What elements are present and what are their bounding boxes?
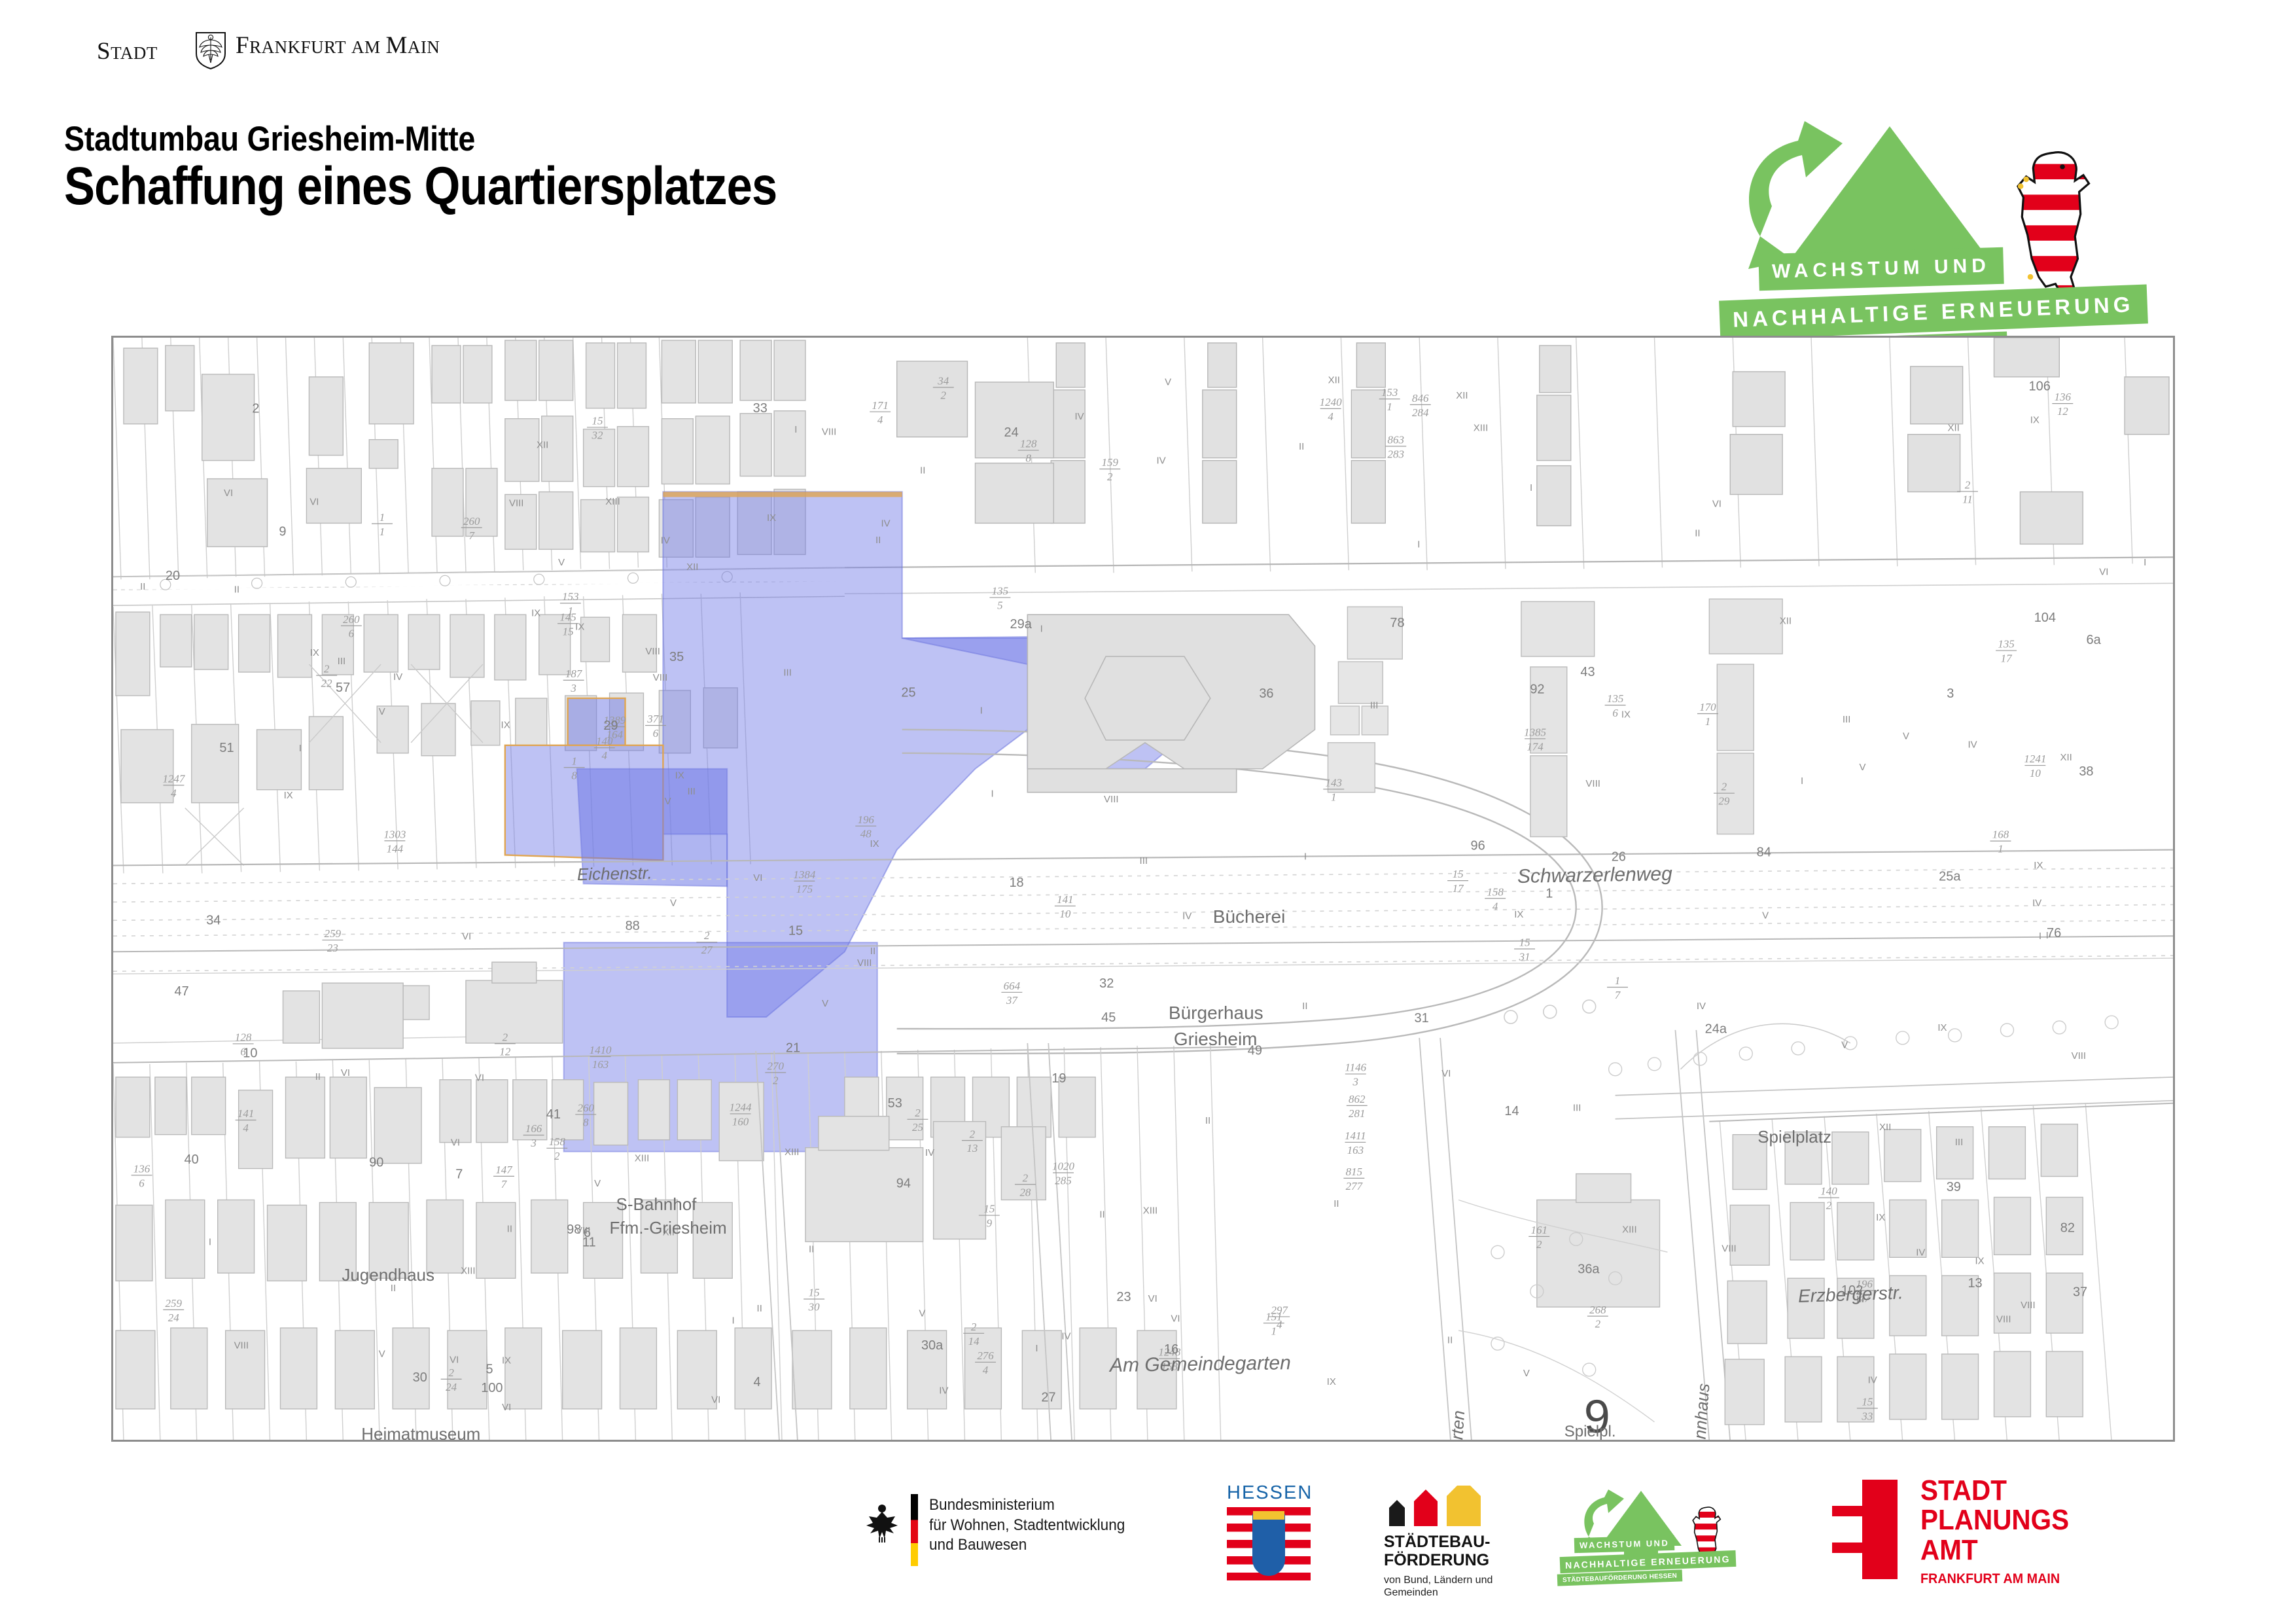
svg-text:VI: VI	[2099, 567, 2108, 578]
svg-text:283: 283	[1388, 448, 1404, 460]
svg-text:VI: VI	[502, 1402, 511, 1413]
page-title: Schaffung eines Quartiersplatzes	[64, 156, 777, 217]
svg-text:270: 270	[768, 1060, 785, 1072]
svg-text:31: 31	[1519, 951, 1530, 963]
svg-text:V: V	[665, 796, 671, 807]
svg-text:XII: XII	[1328, 375, 1340, 386]
svg-text:IX: IX	[501, 719, 510, 730]
svg-text:106: 106	[2029, 379, 2051, 393]
svg-text:XIII: XIII	[1143, 1205, 1157, 1216]
svg-text:13: 13	[1968, 1276, 1982, 1291]
svg-text:II: II	[140, 581, 145, 592]
svg-text:92: 92	[1530, 682, 1544, 696]
svg-text:III: III	[687, 786, 695, 797]
svg-text:1240: 1240	[1320, 396, 1342, 408]
svg-text:II: II	[920, 465, 925, 476]
bmwsb-line2: für Wohnen, Stadtentwicklung	[929, 1516, 1125, 1536]
svg-text:I: I	[980, 705, 983, 716]
svg-text:21: 21	[786, 1041, 800, 1056]
staedtebaufoerderung-logo: STÄDTEBAU- FÖRDERUNG von Bund, Ländern u…	[1384, 1486, 1528, 1584]
bundesadler-icon	[864, 1501, 900, 1544]
svg-text:XIII: XIII	[1474, 422, 1488, 433]
svg-text:37: 37	[1006, 994, 1018, 1007]
svg-text:2: 2	[503, 1031, 508, 1043]
svg-text:II: II	[809, 1243, 814, 1255]
svg-text:V: V	[1523, 1368, 1530, 1379]
svg-text:1: 1	[380, 526, 385, 538]
svg-text:VIII: VIII	[1104, 794, 1118, 805]
svg-text:VI: VI	[753, 872, 762, 883]
svg-text:15: 15	[788, 924, 803, 938]
svg-text:VIII: VIII	[2021, 1300, 2035, 1311]
svg-text:VI: VI	[475, 1072, 484, 1083]
svg-text:V: V	[594, 1178, 601, 1189]
svg-text:153: 153	[1381, 386, 1398, 399]
svg-text:35: 35	[669, 650, 684, 664]
svg-text:I: I	[2039, 931, 2041, 942]
svg-text:33: 33	[753, 401, 768, 416]
svg-text:19: 19	[1051, 1071, 1066, 1086]
svg-text:8: 8	[571, 769, 577, 781]
svg-text:VI: VI	[462, 931, 471, 942]
place-label-b-cherei: Bücherei	[1213, 906, 1286, 927]
svg-text:158: 158	[549, 1135, 566, 1148]
stadtplanungsamt-logo: STADT PLANUNGS AMT FRANKFURT AM MAIN	[1832, 1476, 2172, 1587]
svg-text:33: 33	[1861, 1410, 1873, 1422]
svg-text:VI: VI	[1712, 499, 1722, 510]
svg-text:1244: 1244	[730, 1101, 752, 1114]
svg-text:6: 6	[1612, 707, 1618, 719]
svg-text:3: 3	[1352, 1076, 1358, 1088]
svg-text:29a: 29a	[1010, 617, 1033, 632]
svg-text:V: V	[1903, 730, 1909, 741]
svg-text:IX: IX	[870, 838, 879, 849]
svg-text:4: 4	[243, 1122, 249, 1134]
svg-text:4: 4	[877, 414, 883, 426]
svg-text:664: 664	[1004, 980, 1021, 992]
hessen-wordmark: HESSEN	[1227, 1482, 1312, 1504]
svg-text:371: 371	[646, 713, 663, 725]
svg-text:2: 2	[252, 401, 259, 416]
svg-text:IV: IV	[1968, 740, 1977, 751]
svg-text:II: II	[1447, 1334, 1453, 1346]
cadastral-map[interactable]: 9 13661355135613517136121402140414141411…	[111, 336, 2175, 1442]
svg-text:268: 268	[1589, 1304, 1606, 1316]
svg-text:XIII: XIII	[461, 1266, 475, 1277]
svg-text:2: 2	[448, 1366, 454, 1379]
svg-text:IX: IX	[1975, 1256, 1984, 1267]
svg-text:136: 136	[133, 1162, 150, 1175]
svg-text:84: 84	[1757, 845, 1771, 859]
svg-text:3: 3	[1947, 687, 1954, 701]
svg-text:I: I	[732, 1315, 735, 1326]
svg-text:51: 51	[219, 741, 234, 755]
svg-text:IX: IX	[2034, 860, 2043, 871]
svg-text:166: 166	[525, 1122, 542, 1135]
svg-text:V: V	[1841, 1040, 1848, 1051]
svg-text:135: 135	[1607, 692, 1623, 705]
svg-text:2: 2	[915, 1107, 921, 1119]
svg-text:143: 143	[1326, 776, 1342, 789]
svg-text:24: 24	[1004, 425, 1018, 440]
svg-text:IV: IV	[661, 535, 670, 546]
svg-text:846: 846	[1412, 392, 1429, 404]
svg-text:144: 144	[387, 842, 404, 855]
svg-text:140: 140	[1820, 1185, 1837, 1198]
poster-page: STADT FRANKFURTAMMAIN Stadtumbau Grieshe…	[0, 0, 2296, 1623]
svg-text:128: 128	[1020, 438, 1037, 450]
svg-text:2: 2	[971, 1321, 977, 1333]
city-wordmark-2: FRANKFURTAMMAIN	[236, 31, 440, 69]
svg-text:1: 1	[1386, 401, 1392, 413]
svg-text:2: 2	[1107, 471, 1113, 483]
svg-text:284: 284	[1412, 406, 1429, 419]
sbf-line2: FÖRDERUNG	[1384, 1551, 1528, 1569]
spa-line2: PLANUNGS	[1920, 1505, 2069, 1535]
svg-text:IX: IX	[1876, 1212, 1885, 1223]
svg-text:30a: 30a	[921, 1338, 944, 1353]
svg-text:IX: IX	[675, 770, 684, 781]
bmwsb-text: Bundesministerium für Wohnen, Stadtentwi…	[929, 1495, 1125, 1556]
svg-text:V: V	[379, 706, 385, 717]
spa-line1: STADT	[1920, 1476, 2069, 1505]
svg-text:II: II	[315, 1071, 321, 1082]
svg-text:135: 135	[992, 585, 1008, 597]
svg-text:XIII: XIII	[605, 496, 620, 507]
svg-text:I: I	[299, 743, 302, 754]
svg-text:34: 34	[937, 374, 949, 387]
svg-text:VI: VI	[224, 488, 233, 499]
svg-text:32: 32	[592, 429, 603, 442]
svg-text:88: 88	[626, 919, 640, 933]
place-label-spielpl: Spielpl.	[1564, 1423, 1616, 1441]
svg-text:4: 4	[1328, 410, 1333, 423]
bmwsb-line3: und Bauwesen	[929, 1535, 1125, 1556]
svg-text:2: 2	[554, 1150, 560, 1162]
svg-text:1: 1	[1705, 715, 1710, 728]
svg-text:34: 34	[206, 913, 221, 927]
svg-text:III: III	[1843, 714, 1850, 725]
city-wordmark: STADT	[97, 37, 192, 65]
svg-text:II: II	[875, 535, 881, 546]
svg-text:196: 196	[857, 813, 874, 826]
svg-text:IV: IV	[1697, 1001, 1706, 1012]
svg-text:25a: 25a	[1939, 870, 1961, 884]
svg-text:159: 159	[1102, 456, 1119, 469]
svg-text:II: II	[507, 1223, 512, 1234]
svg-text:30: 30	[808, 1301, 820, 1313]
subtitle: Stadtumbau Griesheim-Mitte	[64, 119, 475, 159]
svg-text:V: V	[379, 1349, 385, 1360]
svg-text:III: III	[1140, 855, 1148, 866]
svg-text:2: 2	[1023, 1171, 1029, 1184]
place-label-b-rgerhaus: Bürgerhaus	[1169, 1003, 1263, 1024]
place-label-spielplatz: Spielplatz	[1757, 1127, 1831, 1147]
svg-text:VIII: VIII	[822, 427, 836, 438]
svg-text:160: 160	[732, 1116, 749, 1128]
street-label-am-gemeindegarten: Am Gemeindegarten	[1110, 1353, 1291, 1378]
svg-text:297: 297	[1271, 1304, 1288, 1317]
svg-text:32: 32	[1099, 976, 1114, 991]
hessen-flag-icon	[1227, 1507, 1311, 1580]
wne-footer-line1: WACHSTUM UND	[1574, 1535, 1675, 1553]
svg-text:24a: 24a	[1705, 1022, 1727, 1036]
svg-text:4: 4	[983, 1364, 989, 1376]
svg-text:7: 7	[501, 1178, 508, 1190]
stadtplanungsamt-mark-icon	[1832, 1480, 1898, 1579]
svg-text:III: III	[783, 668, 791, 679]
svg-text:171: 171	[872, 399, 888, 412]
svg-text:37: 37	[2073, 1285, 2087, 1300]
svg-text:VIII: VIII	[857, 957, 872, 969]
svg-text:38: 38	[2079, 764, 2093, 779]
svg-text:I: I	[1801, 776, 1803, 787]
svg-text:13: 13	[966, 1142, 978, 1154]
svg-text:15: 15	[1519, 936, 1530, 949]
svg-text:VI: VI	[1148, 1293, 1157, 1304]
svg-text:IV: IV	[1156, 455, 1165, 466]
svg-text:1303: 1303	[383, 828, 406, 840]
sbf-sub: von Bund, Ländern und Gemeinden	[1384, 1574, 1528, 1599]
svg-text:XIII: XIII	[1622, 1224, 1636, 1235]
svg-text:IX: IX	[1621, 709, 1631, 720]
place-label-s-bahnhof: S-Bahnhof	[616, 1194, 697, 1215]
svg-text:141: 141	[1057, 893, 1073, 906]
svg-text:III: III	[1955, 1137, 1963, 1148]
svg-text:XII: XII	[1879, 1122, 1891, 1133]
svg-text:I: I	[209, 1236, 211, 1247]
svg-text:II: II	[1333, 1198, 1339, 1209]
svg-text:IV: IV	[1916, 1247, 1925, 1258]
svg-text:II: II	[1302, 1001, 1307, 1012]
svg-text:36a: 36a	[1578, 1262, 1600, 1277]
svg-text:14: 14	[968, 1335, 980, 1347]
svg-text:IX: IX	[531, 608, 540, 619]
svg-text:25: 25	[912, 1121, 923, 1133]
bmwsb-line1: Bundesministerium	[929, 1495, 1125, 1516]
svg-text:1247: 1247	[162, 773, 185, 785]
svg-text:4: 4	[1492, 900, 1498, 912]
svg-text:276: 276	[977, 1349, 994, 1362]
svg-text:104: 104	[2034, 611, 2056, 625]
svg-text:2: 2	[1826, 1200, 1832, 1212]
svg-text:4: 4	[171, 787, 177, 799]
street-label-schwarzerlenweg: Schwarzerlenweg	[1517, 863, 1672, 888]
svg-text:III: III	[1573, 1103, 1581, 1114]
svg-text:8: 8	[1025, 452, 1031, 465]
svg-text:XIII: XIII	[635, 1152, 649, 1164]
svg-text:4: 4	[602, 749, 608, 762]
svg-text:20: 20	[166, 569, 180, 583]
svg-text:7: 7	[1615, 989, 1621, 1001]
svg-text:40: 40	[184, 1152, 198, 1167]
svg-text:2: 2	[1965, 479, 1971, 491]
svg-text:141: 141	[238, 1107, 254, 1120]
svg-text:I: I	[2046, 930, 2049, 941]
svg-text:147: 147	[495, 1164, 513, 1176]
svg-text:IV: IV	[1075, 411, 1084, 422]
svg-text:VI: VI	[309, 496, 319, 507]
svg-text:XII: XII	[686, 562, 698, 573]
svg-text:1146: 1146	[1345, 1061, 1366, 1074]
svg-text:IV: IV	[925, 1147, 934, 1158]
svg-text:53: 53	[888, 1096, 902, 1111]
svg-text:IV: IV	[1868, 1375, 1877, 1386]
svg-text:281: 281	[1349, 1107, 1365, 1120]
svg-text:XII: XII	[537, 439, 548, 450]
svg-text:2: 2	[704, 929, 710, 942]
svg-text:II: II	[1205, 1115, 1210, 1126]
svg-text:5: 5	[997, 599, 1002, 612]
svg-text:XII: XII	[1780, 615, 1792, 626]
svg-text:IX: IX	[1327, 1376, 1336, 1387]
svg-text:170: 170	[1699, 701, 1716, 713]
program-logo-line1: WACHSTUM UND	[1758, 247, 2004, 291]
svg-text:VIII: VIII	[509, 497, 523, 508]
spa-title: STADT PLANUNGS AMT	[1920, 1476, 2069, 1565]
svg-text:36: 36	[1259, 687, 1273, 701]
bmwsb-logo: Bundesministerium für Wohnen, Stadtentwi…	[864, 1489, 1171, 1574]
svg-text:128: 128	[235, 1031, 252, 1044]
svg-text:2: 2	[1595, 1318, 1601, 1330]
svg-text:862: 862	[1349, 1093, 1366, 1105]
svg-text:175: 175	[796, 883, 813, 895]
svg-text:II: II	[757, 1303, 762, 1314]
svg-text:VIII: VIII	[1722, 1243, 1736, 1254]
svg-text:94: 94	[896, 1177, 911, 1191]
svg-text:IV: IV	[881, 518, 890, 529]
svg-text:163: 163	[1347, 1144, 1364, 1156]
svg-text:22: 22	[321, 677, 332, 690]
svg-text:78: 78	[1390, 616, 1404, 630]
svg-text:IV: IV	[939, 1385, 948, 1397]
svg-text:2: 2	[1536, 1238, 1542, 1251]
svg-text:17: 17	[2001, 652, 2013, 665]
svg-text:27: 27	[1041, 1390, 1055, 1404]
svg-text:135: 135	[1998, 638, 2014, 651]
svg-text:30: 30	[413, 1370, 427, 1385]
svg-text:II: II	[234, 584, 239, 595]
svg-text:9: 9	[987, 1217, 993, 1230]
svg-text:6: 6	[139, 1177, 145, 1189]
street-label-erzbergerstr: Erzbergerstr.	[1798, 1282, 1904, 1307]
svg-text:23: 23	[1116, 1290, 1131, 1304]
svg-text:7: 7	[455, 1168, 463, 1182]
svg-text:I: I	[991, 788, 994, 799]
svg-text:XII: XII	[1947, 422, 1959, 433]
svg-text:XII: XII	[1456, 390, 1468, 401]
svg-text:VI: VI	[711, 1394, 720, 1405]
svg-text:XII: XII	[2060, 752, 2072, 763]
svg-text:V: V	[1165, 377, 1171, 388]
svg-text:VIII: VIII	[653, 672, 667, 683]
svg-text:25: 25	[901, 686, 915, 700]
svg-text:187: 187	[565, 668, 583, 680]
svg-text:2: 2	[1722, 781, 1727, 793]
svg-text:26: 26	[1612, 849, 1626, 864]
svg-text:1410: 1410	[590, 1044, 612, 1056]
place-label-ffm-griesheim: Ffm.-Griesheim	[610, 1218, 727, 1238]
svg-text:76: 76	[2047, 926, 2061, 940]
spa-line3: AMT	[1920, 1535, 2069, 1565]
svg-text:168: 168	[1992, 829, 2009, 841]
svg-text:863: 863	[1388, 433, 1404, 446]
svg-text:VI: VI	[451, 1137, 460, 1148]
svg-text:II: II	[1299, 441, 1304, 452]
svg-text:V: V	[558, 557, 565, 568]
svg-text:23: 23	[327, 942, 338, 954]
svg-text:1: 1	[1998, 843, 2003, 855]
sbf-line4: Gemeinden	[1384, 1586, 1528, 1599]
svg-text:100: 100	[481, 1381, 503, 1395]
svg-text:285: 285	[1055, 1175, 1071, 1187]
hessen-logo: HESSEN	[1227, 1482, 1312, 1580]
svg-text:8: 8	[583, 1116, 589, 1129]
svg-text:2: 2	[941, 389, 947, 401]
svg-text:1385: 1385	[1524, 726, 1546, 738]
svg-text:V: V	[919, 1308, 925, 1319]
svg-text:47: 47	[174, 984, 188, 999]
svg-text:IV: IV	[393, 671, 402, 683]
svg-text:VIII: VIII	[2072, 1050, 2086, 1061]
svg-text:III: III	[1370, 700, 1378, 711]
svg-text:260: 260	[578, 1102, 595, 1115]
svg-text:15: 15	[983, 1203, 995, 1215]
svg-text:31: 31	[1414, 1011, 1428, 1026]
svg-text:7: 7	[469, 529, 476, 542]
hessen-lion-icon	[2002, 147, 2100, 308]
svg-text:6: 6	[349, 628, 355, 640]
svg-text:IX: IX	[1514, 909, 1523, 920]
svg-text:28: 28	[1019, 1186, 1031, 1198]
svg-text:39: 39	[1947, 1180, 1961, 1194]
svg-text:1241: 1241	[2024, 753, 2046, 765]
svg-text:1: 1	[568, 605, 573, 617]
city-word1-rest: TADT	[111, 43, 158, 63]
svg-text:IX: IX	[502, 1355, 511, 1366]
german-flag-bar-icon	[911, 1494, 918, 1566]
wne-footer-logo: WACHSTUM UND NACHHALTIGE ERNEUERUNG STÄD…	[1570, 1486, 1747, 1584]
svg-text:I: I	[794, 424, 797, 435]
svg-text:12: 12	[2057, 405, 2068, 418]
svg-text:260: 260	[343, 613, 360, 626]
svg-text:15: 15	[563, 625, 574, 637]
svg-text:9: 9	[279, 525, 286, 539]
svg-text:1020: 1020	[1052, 1160, 1074, 1173]
svg-text:II: II	[870, 946, 875, 957]
sbf-line1: STÄDTEBAU-	[1384, 1533, 1528, 1551]
svg-text:IV: IV	[1182, 911, 1192, 922]
svg-text:10: 10	[1059, 908, 1070, 920]
svg-text:4: 4	[754, 1375, 761, 1389]
svg-text:136: 136	[2055, 391, 2072, 403]
svg-text:IV: IV	[2032, 898, 2041, 909]
svg-text:1: 1	[1271, 1325, 1277, 1337]
svg-text:VI: VI	[1441, 1068, 1451, 1079]
three-houses-icon	[1384, 1486, 1528, 1526]
svg-text:12: 12	[499, 1045, 510, 1058]
svg-text:15: 15	[1862, 1395, 1873, 1408]
svg-text:6a: 6a	[2087, 633, 2102, 647]
svg-text:1: 1	[1331, 791, 1336, 803]
svg-text:1: 1	[571, 755, 576, 767]
svg-text:2: 2	[773, 1074, 779, 1086]
svg-text:VIII: VIII	[576, 1225, 590, 1236]
svg-text:IX: IX	[310, 647, 319, 658]
svg-text:1384: 1384	[793, 868, 815, 881]
svg-text:I: I	[1040, 624, 1043, 635]
svg-text:II: II	[1695, 528, 1700, 539]
